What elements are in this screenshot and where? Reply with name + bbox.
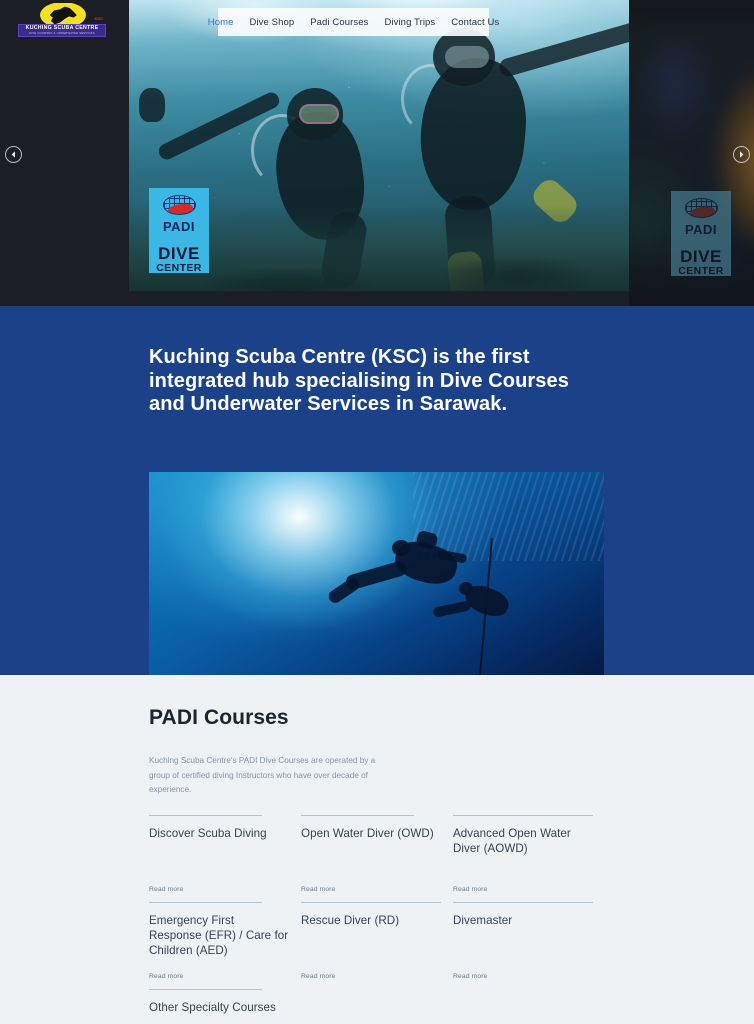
courses-container: PADI Courses Kuching Scuba Centre's PADI… — [149, 675, 605, 1024]
logo-nameplate: KUCHING SCUBA CENTRE DIVE COURSES & UNDE… — [18, 24, 106, 37]
courses-description: Kuching Scuba Centre's PADI Dive Courses… — [149, 754, 387, 798]
course-card-title: Divemaster — [453, 913, 593, 928]
hero-diver-one-mask — [299, 104, 339, 124]
site-logo[interactable]: KSC KUCHING SCUBA CENTRE DIVE COURSES & … — [18, 3, 106, 37]
intro-heading: Kuching Scuba Centre (KSC) is the first … — [149, 346, 569, 417]
courses-heading: PADI Courses — [149, 706, 605, 730]
course-card-title: Advanced Open Water Diver (AOWD) — [453, 826, 593, 856]
course-read-more-link[interactable]: Read more — [453, 886, 488, 893]
course-card-rule — [453, 815, 593, 816]
course-card-other-specialty-courses[interactable]: Other Specialty Courses Read more — [149, 989, 301, 1024]
nav-item-padi-courses[interactable]: Padi Courses — [310, 17, 368, 28]
intro-underwater-photo — [149, 472, 604, 675]
padi-center-text: CENTER — [678, 266, 724, 277]
nav-item-diving-trips[interactable]: Diving Trips — [384, 17, 435, 28]
padi-brand-text: PADI — [685, 222, 717, 237]
course-read-more-link[interactable]: Read more — [453, 973, 488, 980]
course-card-title: Discover Scuba Diving — [149, 826, 289, 841]
course-card-open-water-diver[interactable]: Open Water Diver (OWD) Read more — [301, 815, 453, 902]
course-card-rescue-diver[interactable]: Rescue Diver (RD) Read more — [301, 902, 453, 989]
course-card-rule — [149, 902, 262, 903]
padi-brand-text: PADI — [163, 219, 195, 234]
course-card-divemaster[interactable]: Divemaster Read more — [453, 902, 605, 989]
padi-dive-text: DIVE — [680, 248, 722, 265]
main-navigation: Home Dive Shop Padi Courses Diving Trips… — [218, 8, 489, 36]
hero-diver-one-hand — [139, 88, 165, 122]
course-card-title: Open Water Diver (OWD) — [301, 826, 441, 841]
course-card-title: Other Specialty Courses — [149, 1000, 289, 1015]
course-read-more-link[interactable]: Read more — [149, 973, 184, 980]
course-card-rule — [301, 902, 441, 903]
logo-tagline-text: DIVE COURSES & UNDERWATER SERVICES — [29, 32, 95, 35]
course-card-advanced-open-water-diver[interactable]: Advanced Open Water Diver (AOWD) Read mo… — [453, 815, 605, 902]
hero-carousel: PADI DIVE CENTER — [0, 0, 754, 306]
course-card-title: Rescue Diver (RD) — [301, 913, 441, 928]
course-read-more-link[interactable]: Read more — [149, 886, 184, 893]
nav-item-dive-shop[interactable]: Dive Shop — [249, 17, 294, 28]
padi-swoosh-icon — [689, 205, 715, 217]
logo-ksc-mark: KSC — [95, 16, 103, 21]
padi-swoosh-icon — [167, 202, 193, 214]
padi-dive-text: DIVE — [158, 245, 200, 262]
padi-dive-center-badge-preview: PADI DIVE CENTER — [671, 191, 731, 276]
course-read-more-link[interactable]: Read more — [301, 886, 336, 893]
course-card-title: Emergency First Response (EFR) / Care fo… — [149, 913, 289, 958]
course-card-rule — [453, 902, 593, 903]
intro-section: Kuching Scuba Centre (KSC) is the first … — [0, 306, 754, 675]
padi-dive-center-badge: PADI DIVE CENTER — [149, 188, 209, 273]
course-card-emergency-first-response[interactable]: Emergency First Response (EFR) / Care fo… — [149, 902, 301, 989]
padi-globe-icon — [163, 195, 196, 215]
padi-center-text: CENTER — [156, 263, 202, 274]
nav-item-contact-us[interactable]: Contact Us — [451, 17, 499, 28]
carousel-next-icon[interactable] — [733, 146, 750, 163]
padi-courses-section: PADI Courses Kuching Scuba Centre's PADI… — [0, 675, 754, 1024]
course-card-rule — [301, 815, 414, 816]
nav-item-home[interactable]: Home — [208, 17, 234, 28]
course-card-discover-scuba-diving[interactable]: Discover Scuba Diving Read more — [149, 815, 301, 902]
carousel-prev-icon[interactable] — [5, 146, 22, 163]
course-read-more-link[interactable]: Read more — [301, 973, 336, 980]
course-card-rule — [149, 815, 262, 816]
hero-diver-two-mask — [445, 46, 489, 68]
padi-globe-icon — [685, 198, 718, 218]
courses-grid: Discover Scuba Diving Read more Open Wat… — [149, 815, 605, 1024]
intro-diver-one-head — [392, 540, 410, 556]
course-card-rule — [149, 989, 262, 990]
page-root: PADI DIVE CENTER — [0, 0, 754, 1024]
intro-diver-two-head — [459, 582, 473, 595]
carousel-active-slide: PADI DIVE CENTER — [129, 0, 629, 291]
